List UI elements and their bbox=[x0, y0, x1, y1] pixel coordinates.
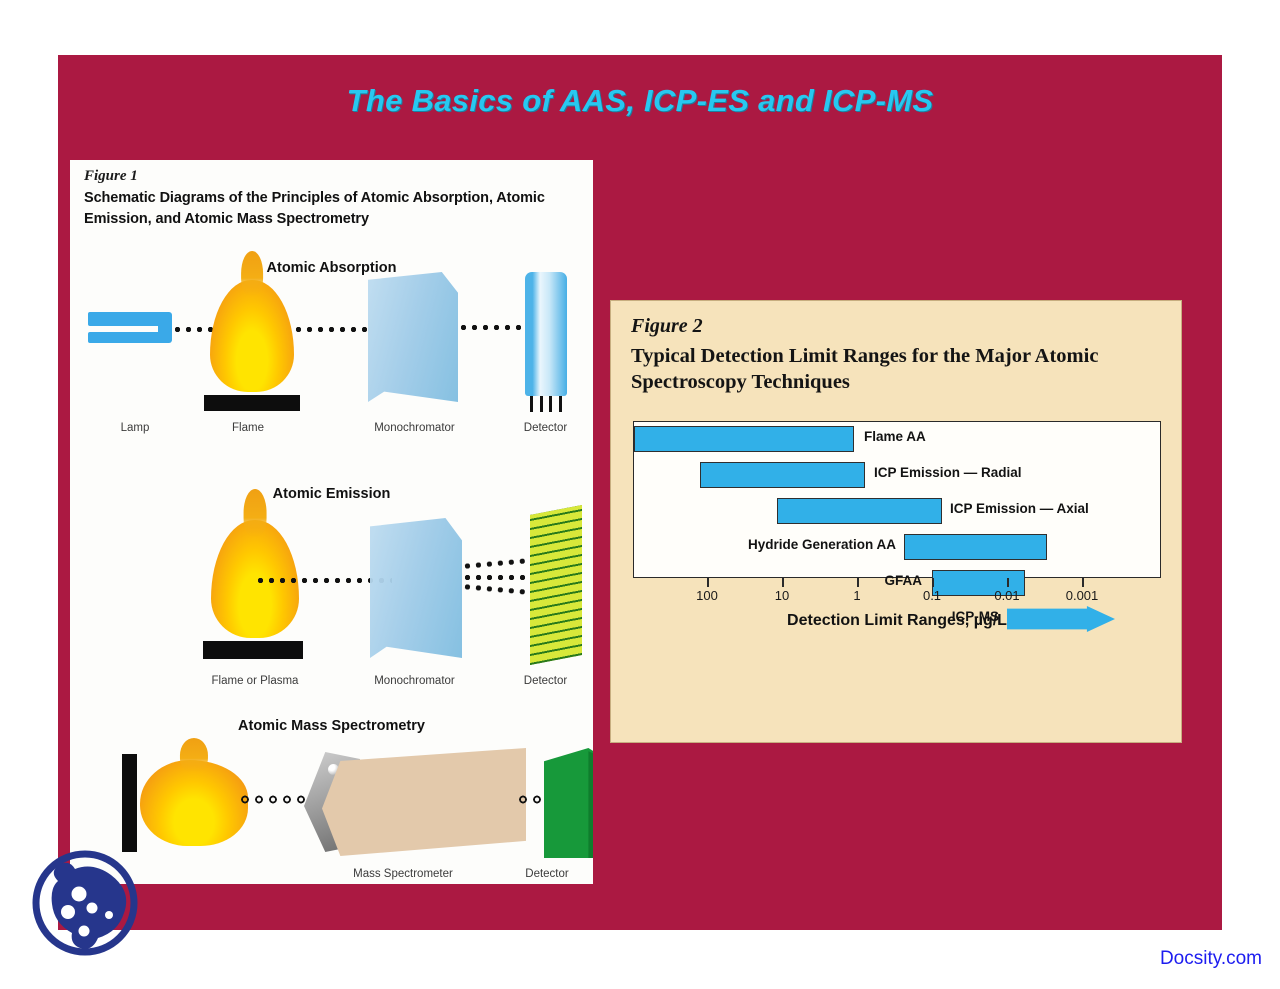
axis-tick-label: 100 bbox=[696, 588, 718, 603]
lamp-neck-icon bbox=[158, 312, 172, 343]
axis-tick-label: 0.001 bbox=[1066, 588, 1099, 603]
axis-tick bbox=[932, 578, 934, 587]
caption-detector-ms: Detector bbox=[502, 868, 592, 880]
detection-limit-chart: Flame AA ICP Emission — Radial ICP Emiss… bbox=[633, 421, 1161, 578]
figure-2-panel: Figure 2 Typical Detection Limit Ranges … bbox=[610, 300, 1182, 743]
caption-monochromator-emission: Monochromator bbox=[342, 675, 487, 687]
bar-label-flame-aa: Flame AA bbox=[864, 429, 926, 444]
plasma-icon bbox=[140, 760, 248, 846]
monochromator-icon bbox=[368, 272, 458, 402]
ms-detector-icon bbox=[544, 748, 593, 858]
caption-detector: Detector bbox=[498, 422, 593, 434]
caption-monochromator: Monochromator bbox=[342, 422, 487, 434]
mass-spectrometer-icon bbox=[322, 748, 526, 856]
bar-flame-aa bbox=[634, 426, 854, 452]
figure-1-kicker: Figure 1 bbox=[84, 168, 138, 185]
axis-tick bbox=[782, 578, 784, 587]
section-title-atomic-emission: Atomic Emission bbox=[70, 486, 593, 502]
axis-tick-label: 10 bbox=[775, 588, 789, 603]
bar-icp-emission-radial bbox=[700, 462, 865, 488]
flame-icon bbox=[210, 280, 294, 392]
axis-tick bbox=[1007, 578, 1009, 587]
lamp-icon bbox=[88, 312, 166, 326]
sampling-plate-icon bbox=[122, 754, 137, 852]
section-title-atomic-mass-spectrometry: Atomic Mass Spectrometry bbox=[70, 718, 593, 734]
bar-row: Hydride Generation AA bbox=[634, 534, 1160, 560]
monochromator-emission-icon bbox=[370, 518, 462, 658]
bar-label-icp-emission-axial: ICP Emission — Axial bbox=[950, 501, 1089, 516]
bar-hydride-generation-aa bbox=[904, 534, 1047, 560]
axis-tick bbox=[707, 578, 709, 587]
figure-1-heading: Schematic Diagrams of the Principles of … bbox=[84, 188, 584, 230]
array-detector-icon bbox=[530, 505, 582, 665]
axis-tick-label: 0.01 bbox=[994, 588, 1019, 603]
bar-icp-emission-axial bbox=[777, 498, 942, 524]
axis-tick bbox=[1082, 578, 1084, 587]
caption-lamp: Lamp bbox=[80, 422, 190, 434]
bar-row: ICP Emission — Axial bbox=[634, 498, 1160, 524]
bar-row: ICP Emission — Radial bbox=[634, 462, 1160, 488]
caption-detector-emission: Detector bbox=[498, 675, 593, 687]
figure-2-heading: Typical Detection Limit Ranges for the M… bbox=[631, 343, 1161, 395]
caption-flame-or-plasma: Flame or Plasma bbox=[180, 675, 330, 687]
lamp-base-icon bbox=[88, 332, 166, 343]
figure-2-kicker: Figure 2 bbox=[631, 315, 703, 338]
section-title-atomic-absorption: Atomic Absorption bbox=[70, 260, 593, 276]
caption-mass-spectrometer: Mass Spectrometer bbox=[308, 868, 498, 880]
detector-icon bbox=[525, 272, 567, 396]
axis-tick-label: 0.1 bbox=[923, 588, 941, 603]
axis-tick bbox=[857, 578, 859, 587]
detector-pins-icon bbox=[527, 396, 565, 412]
axis-tick-label: 1 bbox=[853, 588, 860, 603]
figure-1-panel: Figure 1 Schematic Diagrams of the Princ… bbox=[70, 160, 593, 884]
bar-row: Flame AA bbox=[634, 426, 1160, 452]
chart-x-axis: 100 10 1 0.1 0.01 0.001 bbox=[633, 578, 1161, 604]
bar-label-icp-emission-radial: ICP Emission — Radial bbox=[874, 465, 1022, 480]
burner-emission-icon bbox=[203, 641, 303, 659]
light-beam-mono-to-detector bbox=[458, 325, 530, 330]
chart-axis-title: Detection Limit Ranges, µg/L bbox=[633, 612, 1161, 630]
page-title: The Basics of AAS, ICP-ES and ICP-MS bbox=[58, 83, 1222, 119]
docsity-logo bbox=[18, 848, 152, 958]
docsity-footer-link[interactable]: Docsity.com bbox=[1160, 948, 1262, 970]
burner-icon bbox=[204, 395, 300, 411]
bar-label-hydride-generation-aa: Hydride Generation AA bbox=[704, 537, 896, 552]
caption-flame: Flame bbox=[198, 422, 298, 434]
